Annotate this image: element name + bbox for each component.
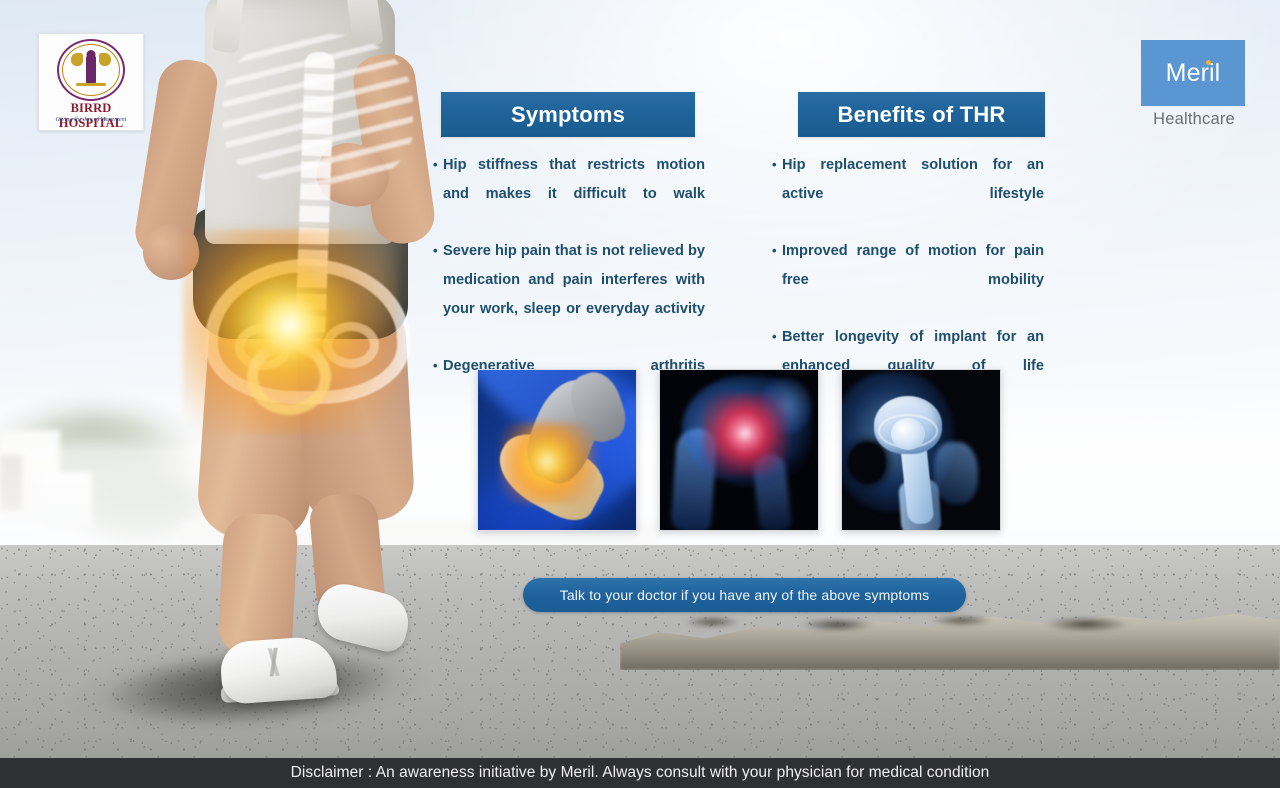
disclaimer-text: Disclaimer : An awareness initiative by … (291, 764, 990, 782)
benefits-bullet-text: Hip replacement solution for an active l… (782, 151, 1044, 237)
list-item: • Hip stiffness that restricts motion an… (433, 151, 705, 237)
brand-subtitle: Healthcare (1135, 110, 1253, 129)
brand-logo-box: Meril (1141, 40, 1245, 106)
runner-figure (95, 0, 435, 724)
benefits-column: Benefits of THR • Hip replacement soluti… (798, 92, 1045, 409)
brand-name-text: Meril (1166, 59, 1221, 87)
runner-right-shoe (312, 579, 415, 656)
brand-logo: Meril Healthcare (1141, 40, 1247, 132)
list-item: • Severe hip pain that is not relieved b… (433, 237, 705, 352)
hip-pain-xray-image (659, 369, 819, 531)
infographic-canvas: BIRRD HOSPITAL Giving the Joy of Movemen… (0, 0, 1280, 788)
seal-left-hand-icon (71, 53, 83, 66)
symptoms-column: Symptoms • Hip stiffness that restricts … (441, 92, 695, 409)
runner-tank-strap-right (347, 0, 384, 48)
hospital-tagline: Giving the Joy of Movement (39, 116, 143, 123)
symptoms-heading: Symptoms (511, 102, 625, 128)
cta-button[interactable]: Talk to your doctor if you have any of t… (523, 578, 966, 612)
benefits-heading: Benefits of THR (838, 102, 1006, 128)
m2-pain-glow (702, 394, 788, 476)
medical-image-strip (477, 369, 1001, 531)
brand-dot-icon (1206, 60, 1211, 65)
hospital-logo: BIRRD HOSPITAL Giving the Joy of Movemen… (38, 33, 144, 131)
m3-obturator-foramen (848, 442, 886, 484)
benefits-banner: Benefits of THR (798, 92, 1045, 137)
bullet-dot-icon: • (433, 352, 443, 409)
rocky-shoulder-shading (660, 608, 1180, 636)
seal-figure-body (86, 55, 96, 85)
list-item: • Hip replacement solution for an active… (772, 151, 1044, 237)
seal-right-hand-icon (99, 53, 111, 66)
hip-implant-prosthesis-image (841, 369, 1001, 531)
cta-label: Talk to your doctor if you have any of t… (560, 587, 930, 603)
seal-base-bar (76, 83, 106, 86)
runner-left-shoe-laces (244, 646, 306, 678)
symptoms-banner: Symptoms (441, 92, 695, 137)
symptoms-bullet-text: Hip stiffness that restricts motion and … (443, 151, 705, 237)
bullet-dot-icon: • (772, 237, 782, 323)
symptoms-bullet-text: Severe hip pain that is not relieved by … (443, 237, 705, 352)
m3-greater-trochanter (934, 442, 978, 504)
runner-left-calf (217, 512, 298, 656)
bullet-dot-icon: • (433, 237, 443, 352)
inflamed-hip-joint-3d-image (477, 369, 637, 531)
bullet-dot-icon: • (433, 151, 443, 237)
m3-femoral-head-ball (891, 418, 925, 450)
disclaimer-bar: Disclaimer : An awareness initiative by … (0, 758, 1280, 788)
list-item: • Improved range of motion for pain free… (772, 237, 1044, 323)
bullet-dot-icon: • (772, 151, 782, 237)
benefits-bullet-text: Improved range of motion for pain free m… (782, 237, 1044, 323)
m1-inflammation-glow (500, 422, 598, 504)
brand-name: Meril (1166, 59, 1221, 88)
hospital-seal-icon (57, 39, 125, 101)
